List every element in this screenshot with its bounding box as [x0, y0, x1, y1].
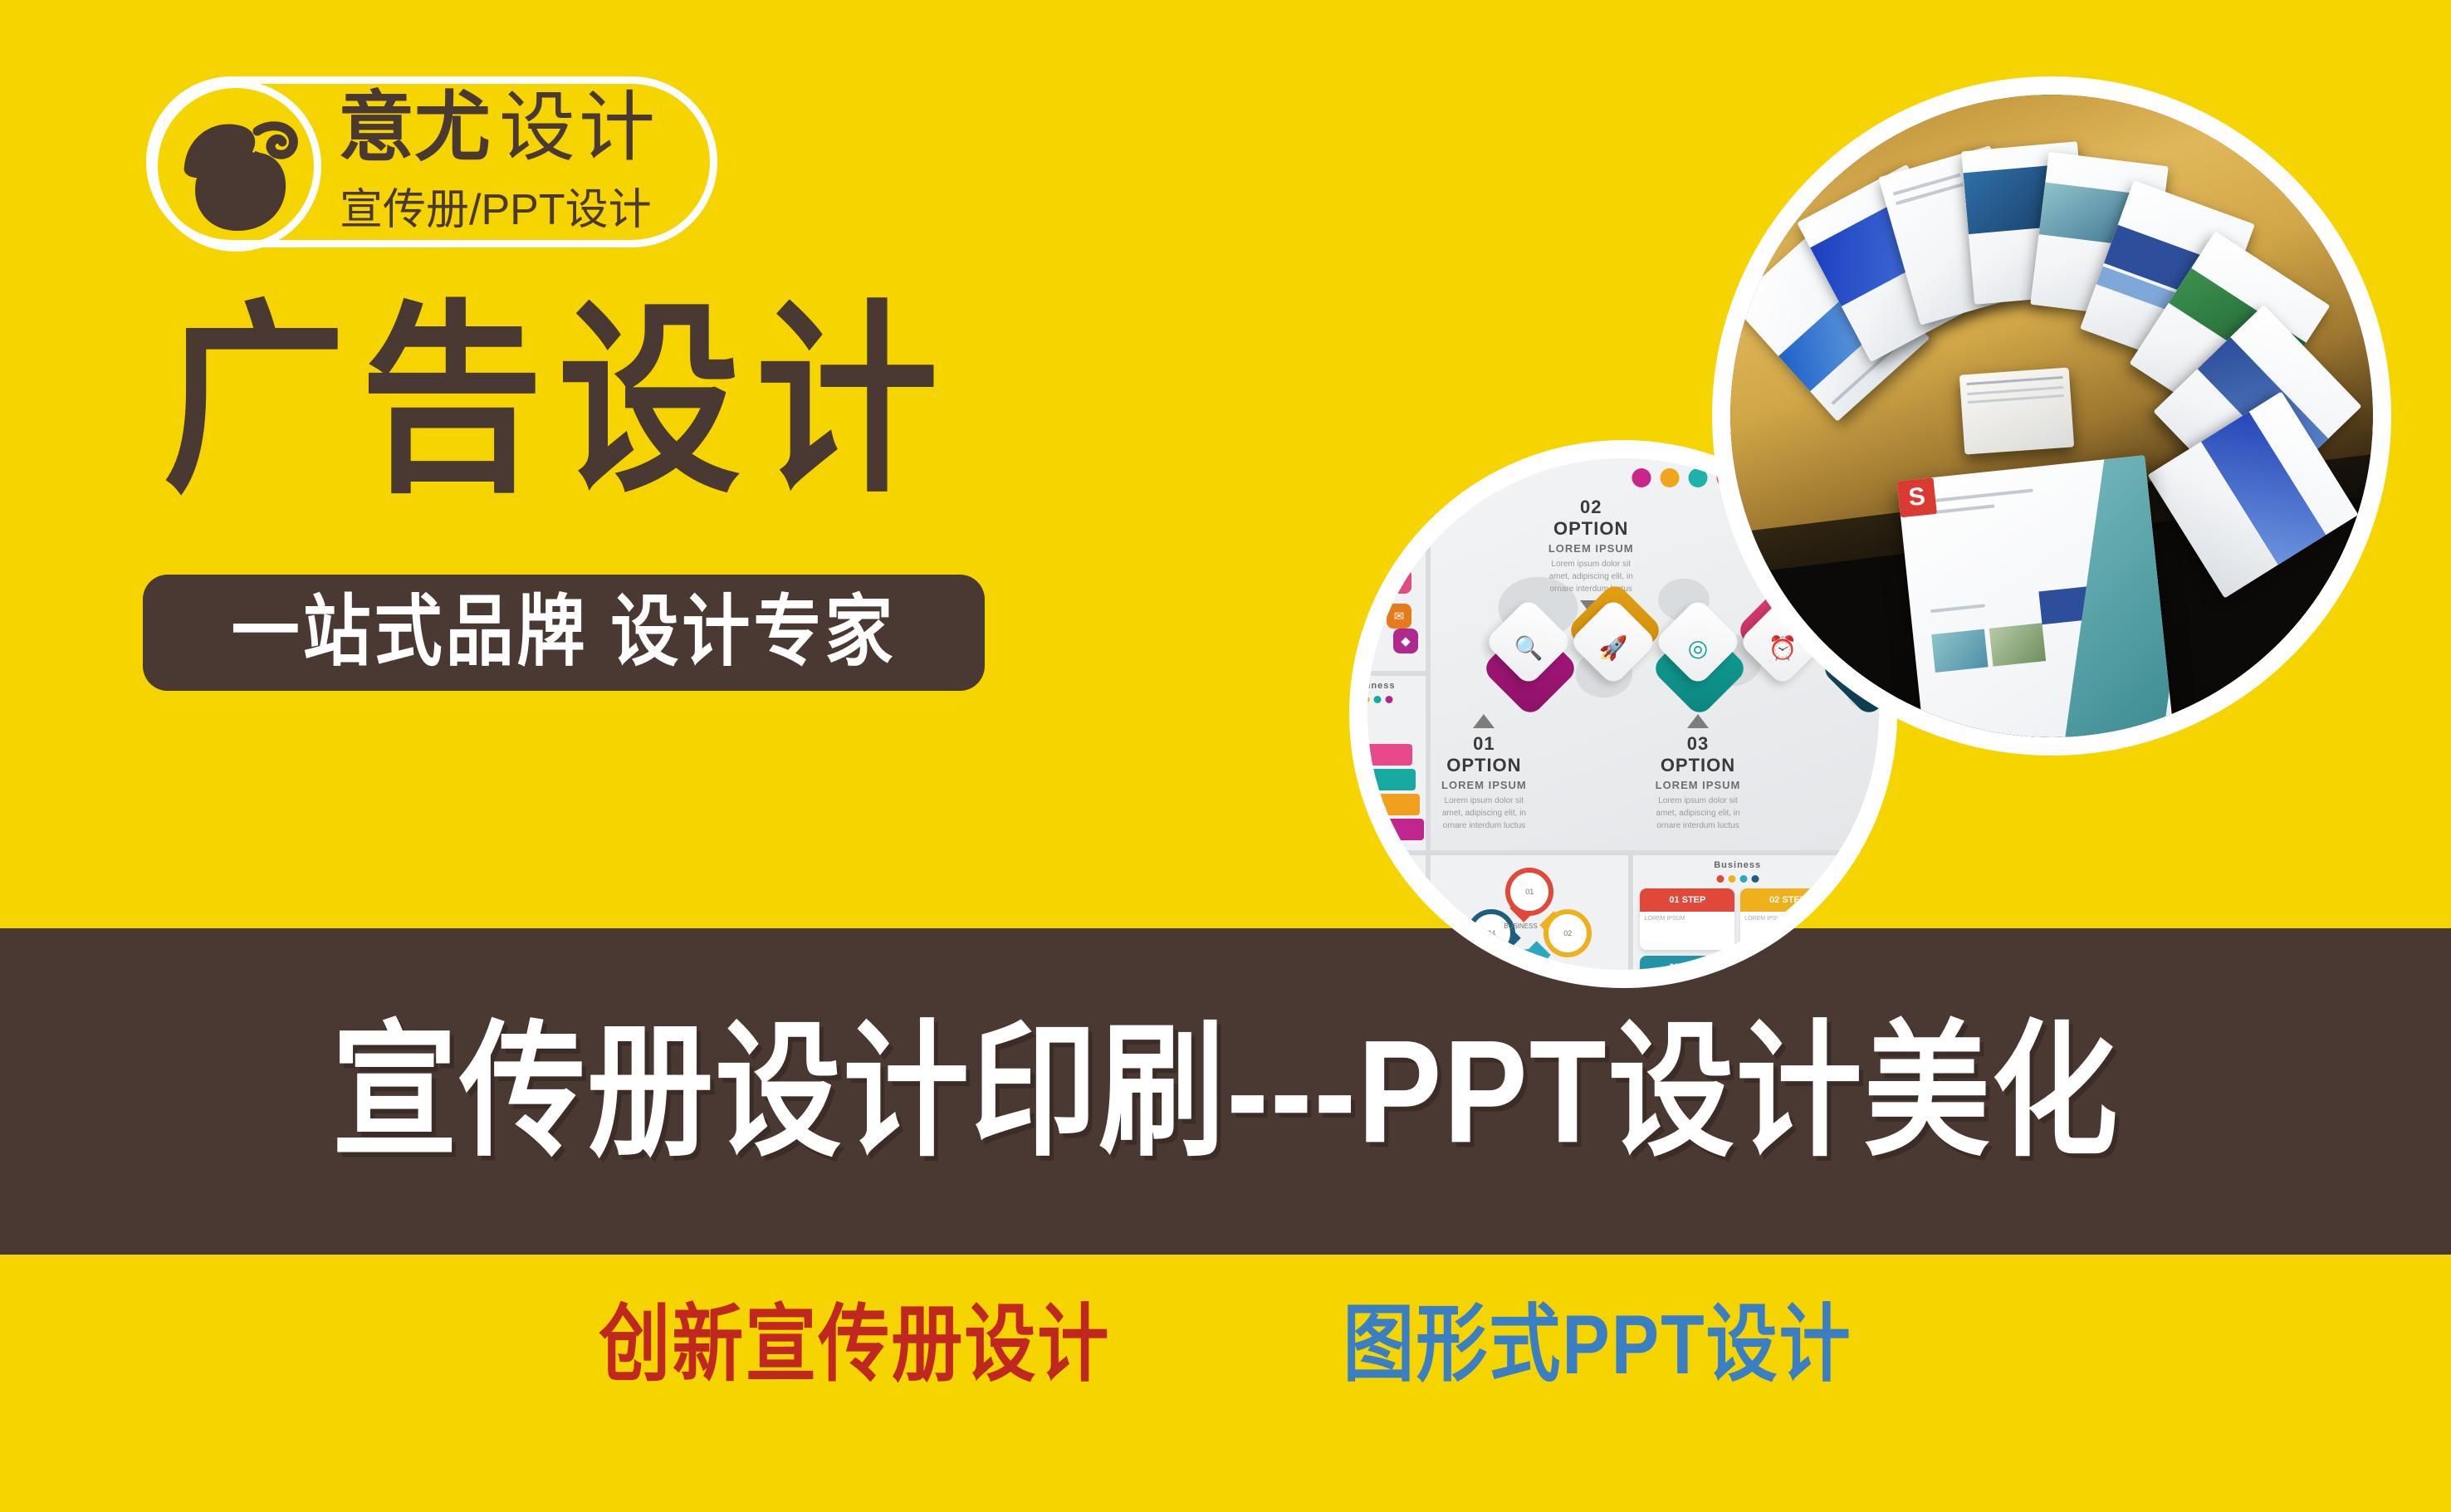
logo-mark-ring	[150, 81, 321, 252]
poster-canvas: 意尤 设计 宣传册/PPT设计 广告设计 一站式品牌 设计专家 ⌂ ◎	[0, 0, 2451, 1512]
thumb-funnel-diagram: Business 01 02 03 04	[1367, 676, 1426, 850]
tagline-pill: 一站式品牌 设计专家	[143, 575, 985, 691]
cross-node-group: ⓘ ● ■ ⌂ ✉ ▲ ◆	[1367, 546, 1426, 655]
bird-leaf-mark-icon	[171, 101, 309, 239]
page-title: 广告设计	[163, 299, 953, 503]
node-02: 🚀	[1573, 609, 1653, 688]
brand-name: 意尤 设计	[338, 79, 658, 177]
brand-name-bold: 意尤	[338, 90, 491, 166]
home-icon: ⌂	[1397, 458, 1419, 477]
thumb-steps-diagram: Business 01 STEPLOREM IPSUM 02 STEPLOREM…	[1633, 855, 1841, 970]
thumb-funnel-title: Business	[1367, 681, 1395, 691]
step-cards: 01 STEPLOREM IPSUM 02 STEPLOREM IPSUM 03…	[1640, 888, 1834, 970]
thumb-last-slide: Business 06	[1847, 855, 1879, 970]
node-01: 🔍	[1489, 609, 1568, 688]
option-01-label: 01 OPTION LOREM IPSUM Lorem ipsum dolor …	[1431, 714, 1538, 832]
infographic-title-bold: BUSINESS	[1545, 458, 1680, 462]
thumb-small-option: BUSINESS 04 OPTION	[1367, 855, 1426, 970]
highlight-band-text: 宣传册设计印刷---PPT设计美化	[0, 903, 2451, 1281]
thumb-banner-strips: ⌂ ◎	[1367, 458, 1426, 525]
node-03: ◎	[1658, 609, 1738, 688]
thumb-small-title: BUSINESS	[1367, 860, 1398, 870]
service-captions: 创新宣传册设计 图形式PPT设计	[0, 1279, 2451, 1412]
caption-brochure-design: 创新宣传册设计	[599, 1303, 1110, 1387]
printed-brochures-photo-circle: S	[1712, 76, 2391, 756]
tagline-pill-label: 一站式品牌 设计专家	[232, 594, 897, 671]
highlight-band: 宣传册设计印刷---PPT设计美化	[0, 928, 2451, 1255]
brand-tagline: 宣传册/PPT设计	[340, 177, 652, 243]
funnel-rows: 01 02 03 04	[1367, 741, 1424, 844]
thumb-small-label: 04 OPTION	[1367, 892, 1396, 902]
rocket-icon: 🚀	[1573, 609, 1653, 688]
red-seal-icon: S	[1896, 477, 1936, 517]
target-icon: ◎	[1397, 480, 1419, 502]
brand-name-thin: 设计	[499, 90, 658, 166]
thumb-bottom-strip: 01 02 03 04 BUSINESS Business	[1431, 855, 1879, 970]
card-holder	[1959, 367, 2073, 454]
brand-logo-badge: 意尤 设计 宣传册/PPT设计	[146, 76, 717, 247]
caption-ppt-design: 图形式PPT设计	[1343, 1303, 1852, 1387]
front-brochure: S	[1896, 455, 2173, 737]
magnifier-icon: 🔍	[1489, 609, 1568, 688]
thumb-cross-diagram: ⓘ ● ■ ⌂ ✉ ▲ ◆	[1367, 530, 1426, 671]
thumb-ring-diagram: 01 02 03 04 BUSINESS	[1431, 855, 1628, 970]
target-icon: ◎	[1658, 609, 1738, 688]
